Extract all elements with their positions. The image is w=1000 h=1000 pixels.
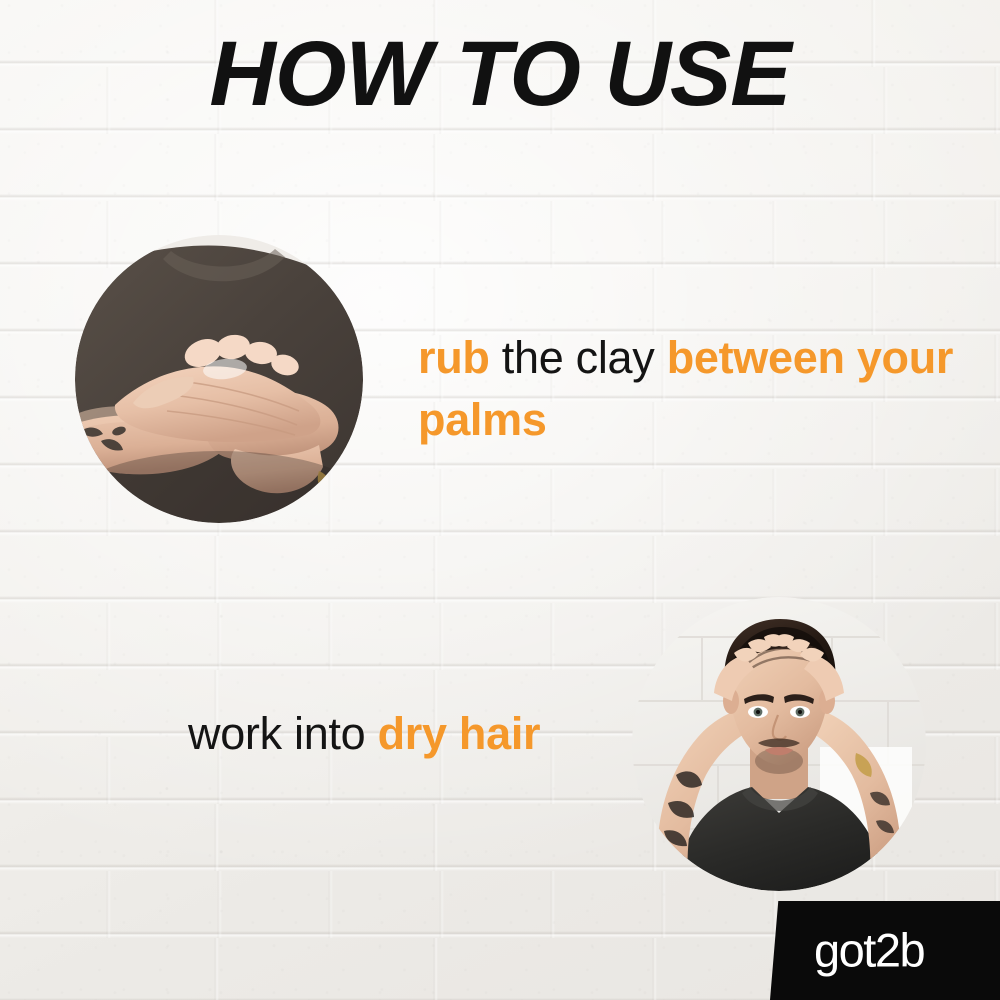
page-title: HOW TO USE: [0, 28, 1000, 120]
step-1-caption: rub the clay between your palms: [418, 327, 958, 451]
step-2-caption-part-1: work into: [188, 708, 378, 759]
step-2-caption: work into dry hair: [188, 703, 658, 765]
step-2-caption-part-2: dry hair: [378, 708, 541, 759]
got2b-logo: got2b: [770, 901, 1000, 1000]
step-1-caption-part-1: rub: [418, 332, 502, 383]
got2b-logo-text: got2b: [814, 926, 924, 973]
step-1-caption-part-2: the clay: [502, 332, 667, 383]
hands-rubbing-clay-photo: [75, 235, 363, 523]
work-into-hair-photo: [632, 597, 926, 891]
how-to-use-poster: HOW TO USE: [0, 0, 1000, 1000]
